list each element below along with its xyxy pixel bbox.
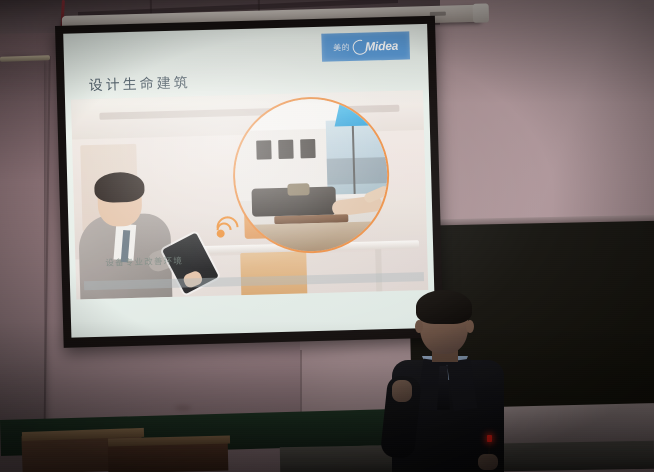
inset-cushion [287, 183, 309, 196]
presenter-lower-hand [478, 454, 498, 470]
midea-wordmark: Midea [365, 39, 398, 54]
roller-end-cap [473, 3, 490, 22]
photo-orange-cabinet [240, 251, 307, 297]
inset-picture-frame-1 [256, 140, 272, 159]
midea-chinese-label: 美的 [333, 42, 350, 53]
curtain-shading [0, 58, 44, 472]
slide: 美的 Midea 设计生命建筑 [63, 24, 435, 338]
inset-blue-blind [335, 99, 381, 126]
photo-circular-inset [231, 95, 391, 255]
presenter-ear-left [415, 320, 423, 333]
classroom-presentation-photo: 美的 Midea 设计生命建筑 [0, 0, 654, 472]
slide-caption: 设备专业改善环境 [105, 255, 183, 269]
inset-picture-frame-3 [300, 139, 316, 158]
photo-man-hair [94, 172, 145, 203]
wall-scuff-c [175, 405, 191, 411]
inset-floor [236, 221, 389, 253]
slide-title: 设计生命建筑 [88, 72, 191, 95]
inset-city-view [327, 157, 388, 185]
photo-desk-leg [375, 249, 382, 293]
presenter-hand-gesture [392, 380, 412, 402]
screen-surface: 美的 Midea 设计生命建筑 [63, 24, 435, 338]
presenter-hair [416, 290, 472, 324]
presenter [382, 288, 542, 472]
presenter-ear-right [466, 320, 474, 333]
laser-pointer-led [487, 435, 492, 442]
midea-logo: 美的 Midea [321, 31, 410, 61]
inset-picture-frame-2 [278, 140, 294, 159]
